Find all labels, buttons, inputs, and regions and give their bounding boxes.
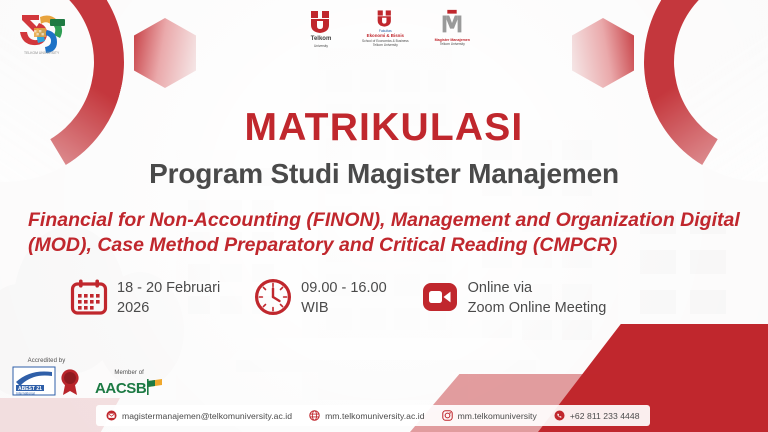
whatsapp-icon [554,410,565,421]
aacsb-flag-icon [147,378,163,396]
contact-instagram[interactable]: mm.telkomuniversity [442,410,537,421]
event-platform-line1: Online via [468,280,532,296]
abest21-sub-text: International [16,391,35,395]
telkom-u-mark [306,8,336,36]
contact-email[interactable]: magistermanajemen@telkomuniversity.ac.id [106,410,292,421]
page-title-eyebrow: MATRIKULASI [0,108,768,147]
event-time-text: 09.00 - 16.00 WIB [301,278,386,318]
event-date-line2: 2026 [117,300,149,316]
instagram-icon [442,410,453,421]
contact-whatsapp-text: +62 811 233 4448 [570,411,640,421]
feb-logo-line3: Telkom University [373,43,398,47]
headline-block: MATRIKULASI Program Studi Magister Manaj… [0,108,768,188]
event-date-line1: 18 - 20 Februari [117,280,220,296]
event-info-row: 18 - 20 Februari 2026 [70,278,606,321]
contact-website[interactable]: mm.telkomuniversity.ac.id [309,410,424,421]
fakultas-ekonomi-bisnis-logo: Fakultas Ekonomi & Bisnis School of Econ… [362,8,409,47]
accreditation-group: Accredited by ABEST 21 International Mem… [12,358,163,396]
calendar-icon [70,278,108,321]
35-years-anniversary-logo: TELKOM UNIVERSITY [14,8,72,58]
event-time-item: 09.00 - 16.00 WIB [254,278,386,321]
anniversary-logo-caption: TELKOM UNIVERSITY [24,51,60,55]
contact-website-text: mm.telkomuniversity.ac.id [325,411,424,421]
event-time-line2: WIB [301,300,328,316]
telkom-logo-line2: University [314,44,328,48]
telkom-logo-line1: Telkom [311,36,332,44]
abest21-accreditation-badge: Accredited by ABEST 21 International [12,358,81,396]
aacsb-wordmark: AACSB [95,381,146,396]
event-time-line1: 09.00 - 16.00 [301,280,386,296]
top-logo-group: Telkom University Fakultas Ekonomi & Bis… [306,8,470,60]
contact-email-text: magistermanajemen@telkomuniversity.ac.id [122,411,292,421]
video-camera-icon [421,278,459,321]
abest21-mark: ABEST 21 International [12,366,56,396]
feb-u-mark [374,8,396,29]
email-icon [106,410,117,421]
mm-logo-line2: Telkom University [440,42,465,46]
page-subtitle: Financial for Non-Accounting (FINON), Ma… [28,208,746,258]
event-date-item: 18 - 20 Februari 2026 [70,278,220,321]
event-platform-text: Online via Zoom Online Meeting [468,278,607,318]
event-platform-line2: Zoom Online Meeting [468,300,607,316]
mm-m-mark [437,8,467,38]
abest21-seal-icon [59,368,81,396]
aacsb-label: Member of [114,370,144,376]
clock-icon [254,278,292,321]
page-title: Program Studi Magister Manajemen [0,160,768,188]
contact-instagram-text: mm.telkomuniversity [458,411,537,421]
magister-manajemen-logo: Magister Manajemen Telkom University [435,8,470,46]
footer-contact-bar: magistermanajemen@telkomuniversity.ac.id… [96,405,650,426]
contact-whatsapp[interactable]: +62 811 233 4448 [554,410,640,421]
telkom-university-logo: Telkom University [306,8,336,48]
abest21-label: Accredited by [28,358,66,364]
event-date-text: 18 - 20 Februari 2026 [117,278,220,318]
event-platform-item: Online via Zoom Online Meeting [421,278,607,321]
globe-icon [309,410,320,421]
aacsb-member-badge: Member of AACSB [95,370,163,396]
poster-canvas: TELKOM UNIVERSITY Telkom University Faku… [0,0,768,432]
